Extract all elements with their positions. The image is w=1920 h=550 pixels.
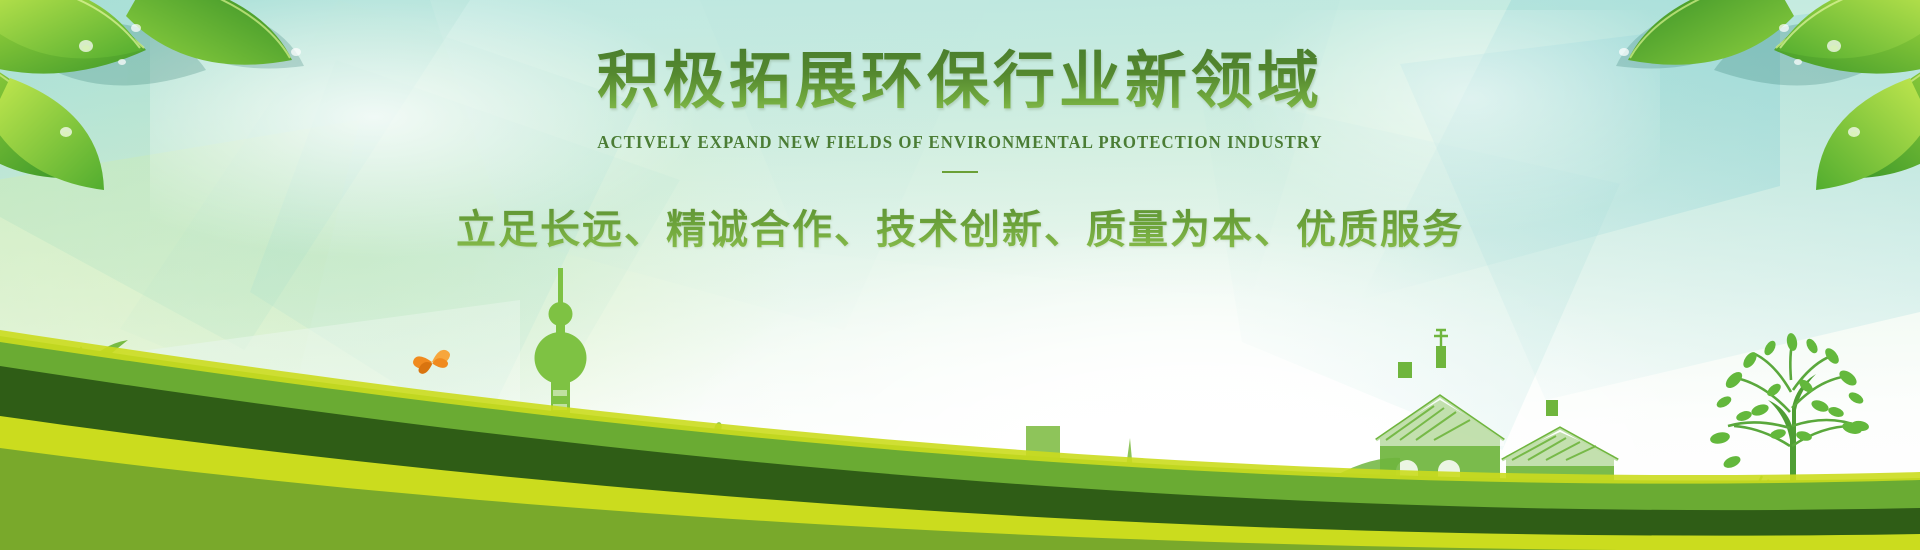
leaf-shape xyxy=(1816,78,1920,190)
leaf-shape xyxy=(0,78,104,190)
wave-bands xyxy=(0,320,1920,550)
corner-leaves-right xyxy=(1490,0,1920,190)
title-divider xyxy=(942,171,978,173)
corner-leaves-left xyxy=(0,0,430,190)
banner-tagline: 立足长远、精诚合作、技术创新、质量为本、优质服务 xyxy=(0,197,1920,255)
eco-banner: 积极拓展环保行业新领域 ACTIVELY EXPAND NEW FIELDS O… xyxy=(0,0,1920,550)
